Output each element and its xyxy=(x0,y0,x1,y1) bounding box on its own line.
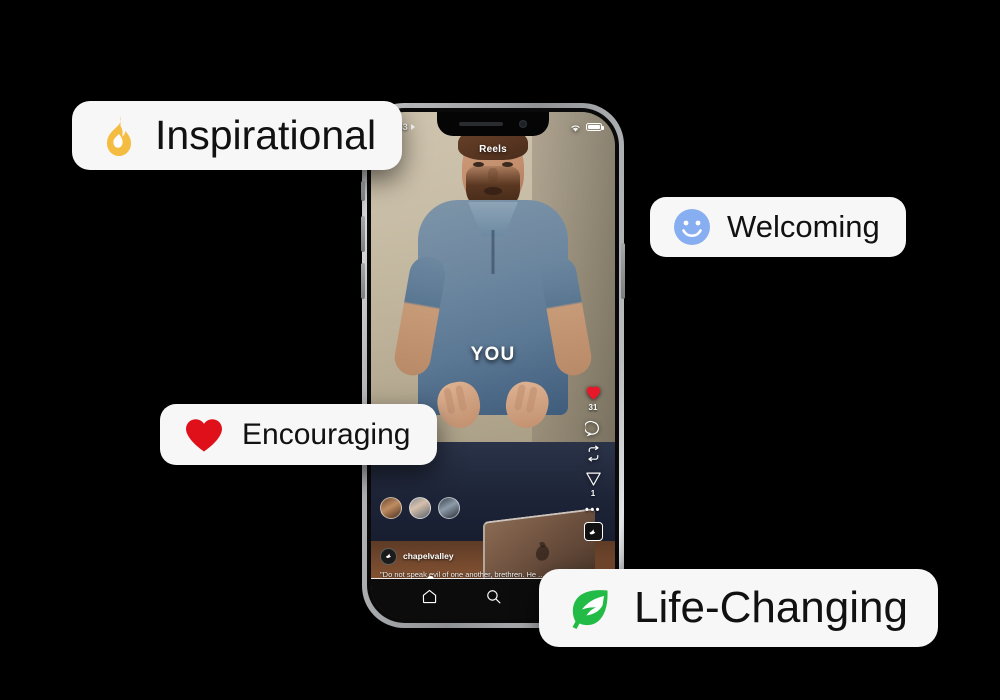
phone-notch xyxy=(437,112,549,136)
reel-caption-block: chapelvalley "Do not speak evil of one a… xyxy=(380,548,560,579)
video-subject-person xyxy=(408,132,578,415)
volume-up-button[interactable] xyxy=(361,216,365,252)
tag-pill-welcoming[interactable]: Welcoming xyxy=(650,197,906,257)
person-mouth xyxy=(484,187,502,195)
heart-badge: ♥ xyxy=(399,510,402,519)
phone-device: Reels YOU 11:53 xyxy=(362,103,624,628)
phone-bezel: Reels YOU 11:53 xyxy=(367,108,619,623)
repost-icon xyxy=(585,445,602,462)
comment-action[interactable] xyxy=(585,420,602,437)
earpiece-speaker xyxy=(459,122,503,126)
power-button[interactable] xyxy=(621,243,625,299)
location-arrow-icon xyxy=(411,124,415,130)
more-dots-icon[interactable]: ••• xyxy=(585,506,601,514)
flame-icon xyxy=(99,114,135,158)
phone-screen[interactable]: Reels YOU 11:53 xyxy=(371,112,615,619)
tag-pill-encouraging[interactable]: Encouraging xyxy=(160,404,437,465)
tag-pill-label: Inspirational xyxy=(155,112,376,159)
repost-action[interactable] xyxy=(585,445,602,462)
reel-action-rail[interactable]: 31 xyxy=(578,384,608,541)
smiley-icon xyxy=(673,208,711,246)
tag-pill-life-changing[interactable]: Life-Changing xyxy=(539,569,938,647)
heart-icon xyxy=(585,384,602,401)
wifi-icon xyxy=(569,122,582,133)
tag-pill-label: Welcoming xyxy=(727,209,880,245)
volume-down-button[interactable] xyxy=(361,263,365,299)
dove-logo-icon xyxy=(586,525,600,539)
front-camera-icon xyxy=(519,120,527,128)
heart-badge: ♥ xyxy=(428,510,431,519)
dove-logo-icon xyxy=(383,550,395,562)
share-icon xyxy=(585,470,602,487)
account-avatar[interactable] xyxy=(380,548,397,565)
reaction-avatar-2[interactable]: ♥ xyxy=(409,497,431,519)
tag-pill-label: Life-Changing xyxy=(634,583,908,633)
search-icon[interactable] xyxy=(485,588,502,605)
account-row[interactable]: chapelvalley xyxy=(380,548,560,565)
reaction-avatars[interactable]: ♥ ♥ ♥ xyxy=(380,497,467,519)
reels-screen-title: Reels xyxy=(479,144,507,155)
heart-icon xyxy=(184,417,224,453)
profile-avatar-icon[interactable] xyxy=(584,522,603,541)
comment-icon xyxy=(585,420,602,437)
polo-placket xyxy=(492,230,495,274)
battery-icon xyxy=(586,123,602,131)
account-username[interactable]: chapelvalley xyxy=(403,551,454,561)
like-action[interactable]: 31 xyxy=(585,384,602,412)
reaction-avatar-3[interactable]: ♥ xyxy=(438,497,460,519)
home-icon[interactable] xyxy=(421,588,438,605)
share-action[interactable]: 1 xyxy=(585,470,602,498)
mute-switch-button[interactable] xyxy=(361,181,365,201)
like-count: 31 xyxy=(589,403,598,412)
leaf-icon xyxy=(566,584,614,632)
heart-badge: ♥ xyxy=(457,510,460,519)
reaction-avatar-1[interactable]: ♥ xyxy=(380,497,402,519)
share-count: 1 xyxy=(591,489,595,498)
tag-pill-inspirational[interactable]: Inspirational xyxy=(72,101,402,170)
person-torso xyxy=(418,200,568,415)
video-caption-overlay: YOU xyxy=(471,344,516,366)
screenshot-stage: Reels YOU 11:53 xyxy=(0,0,1000,700)
tag-pill-label: Encouraging xyxy=(242,418,410,452)
